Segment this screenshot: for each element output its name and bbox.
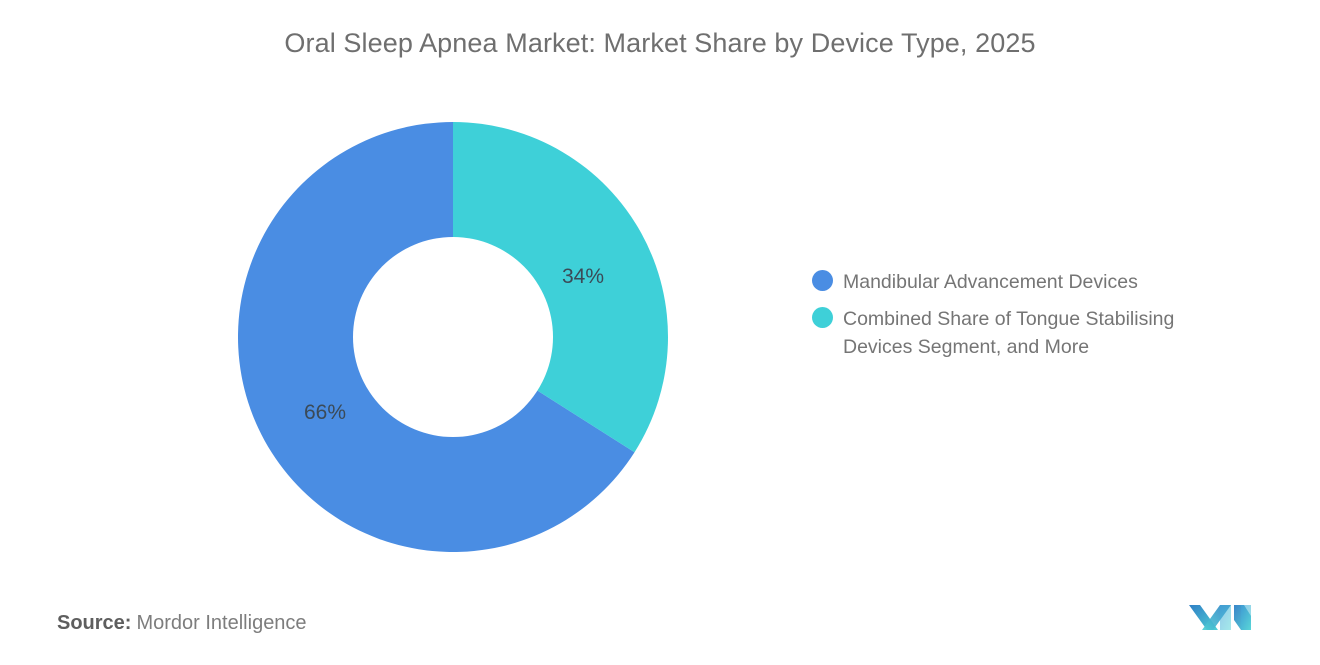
logo-svg xyxy=(1186,596,1254,638)
mordor-intelligence-logo-icon xyxy=(1186,596,1254,638)
source-value: Mordor Intelligence xyxy=(136,612,306,634)
legend-item-label: Mandibular Advancement Devices xyxy=(843,268,1138,296)
legend-color-swatch-icon xyxy=(812,307,833,328)
legend-color-swatch-icon xyxy=(812,270,833,291)
legend: Mandibular Advancement Devices Combined … xyxy=(812,268,1252,370)
legend-item-mandibular-advancement-devices[interactable]: Mandibular Advancement Devices xyxy=(812,268,1252,296)
source-attribution: Source:Mordor Intelligence xyxy=(57,612,307,635)
source-label: Source: xyxy=(57,612,131,634)
legend-item-combined-share-tongue-stabilising[interactable]: Combined Share of Tongue Stabilising Dev… xyxy=(812,305,1252,361)
donut-chart: 34% 66% xyxy=(238,122,668,552)
legend-item-label: Combined Share of Tongue Stabilising Dev… xyxy=(843,305,1243,361)
donut-hole xyxy=(353,237,553,437)
donut-chart-svg xyxy=(238,122,668,552)
page-title: Oral Sleep Apnea Market: Market Share by… xyxy=(0,28,1320,59)
